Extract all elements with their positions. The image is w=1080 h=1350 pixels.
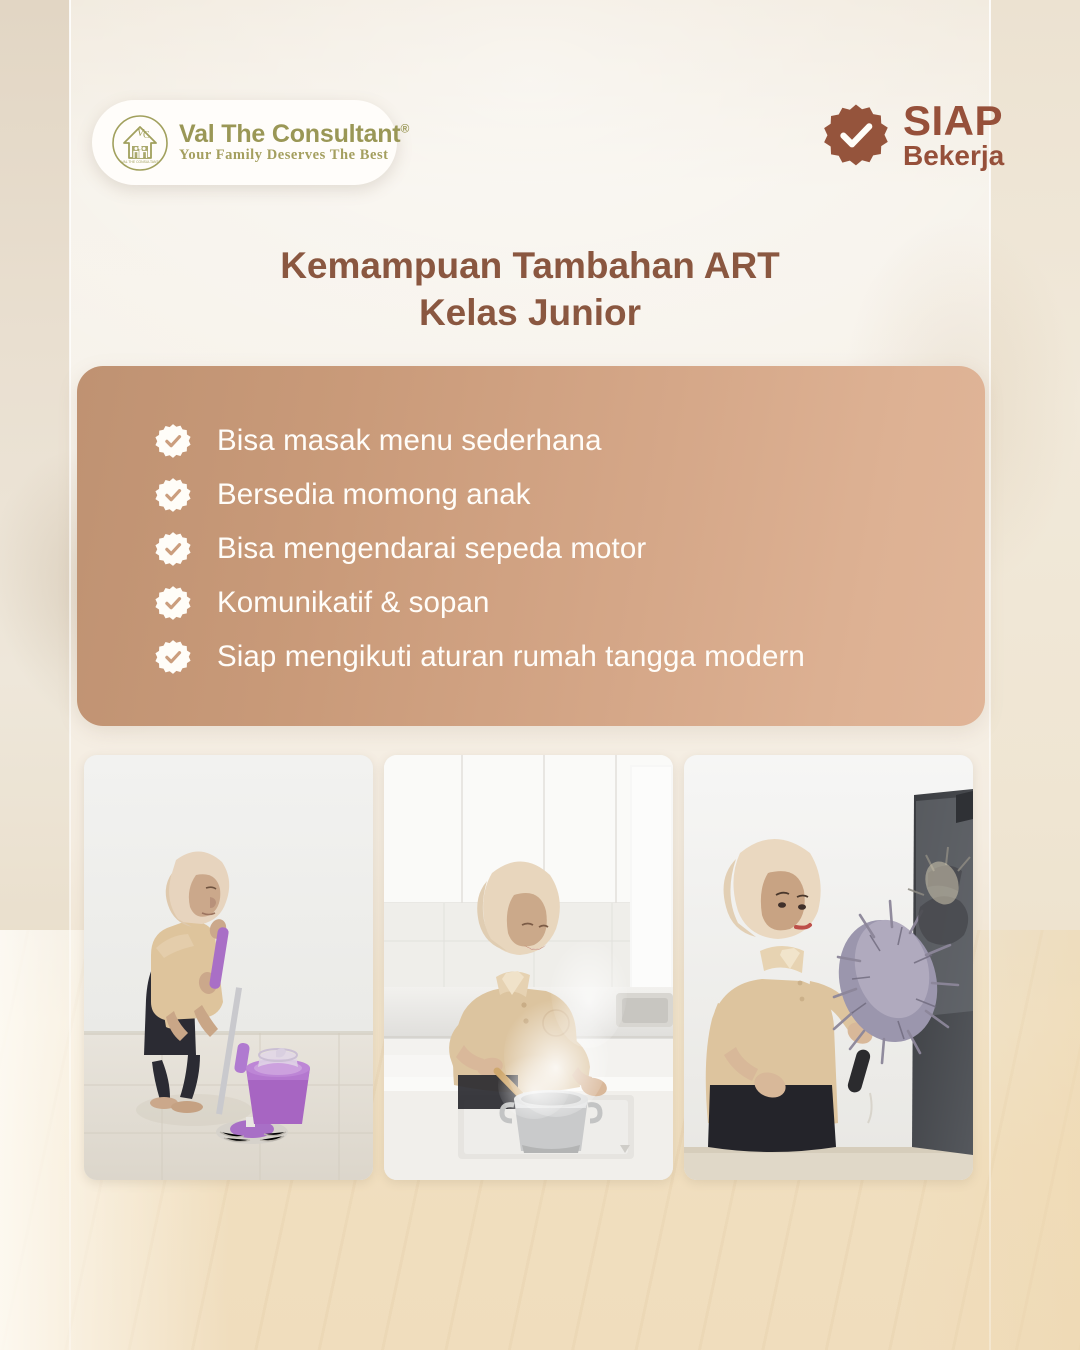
list-item: Bersedia momong anak (155, 468, 985, 521)
skills-list: Bisa masak menu sederhana Bersedia momon… (155, 414, 985, 683)
page-title: Kemampuan Tambahan ART Kelas Junior (70, 242, 990, 337)
svg-text:C: C (143, 130, 150, 141)
skills-card: Bisa masak menu sederhana Bersedia momon… (77, 366, 985, 726)
brand-tagline: Your Family Deserves The Best (179, 147, 389, 163)
verified-check-badge-icon (823, 102, 889, 168)
siap-title: SIAP (903, 100, 1004, 141)
page-title-line1: Kemampuan Tambahan ART (280, 245, 780, 286)
list-item: Komunikatif & sopan (155, 576, 985, 629)
gallery-photo-cooking[interactable] (384, 755, 673, 1180)
brand-logo-pill[interactable]: V C VAL THE CONSULTANT Val The Consultan… (92, 100, 397, 185)
siap-bekerja-badge: SIAP Bekerja (823, 100, 1004, 170)
check-badge-icon (155, 477, 191, 513)
gallery-photo-mopping[interactable] (84, 755, 373, 1180)
page-title-line2: Kelas Junior (70, 289, 990, 336)
check-badge-icon (155, 639, 191, 675)
brand-name: Val The Consultant® (179, 120, 409, 148)
list-item-label: Bisa masak menu sederhana (217, 424, 602, 458)
list-item-label: Bersedia momong anak (217, 478, 531, 512)
check-badge-icon (155, 585, 191, 621)
list-item-label: Siap mengikuti aturan rumah tangga moder… (217, 640, 805, 674)
siap-subtitle: Bekerja (903, 142, 1004, 169)
registered-mark: ® (400, 122, 409, 136)
list-item: Bisa mengendarai sepeda motor (155, 522, 985, 575)
house-family-circle-logo-icon: V C VAL THE CONSULTANT (110, 113, 170, 173)
check-badge-icon (155, 423, 191, 459)
list-item-label: Bisa mengendarai sepeda motor (217, 532, 646, 566)
check-badge-icon (155, 531, 191, 567)
gallery-photo-dusting[interactable] (684, 755, 973, 1180)
list-item: Siap mengikuti aturan rumah tangga moder… (155, 630, 985, 683)
list-item: Bisa masak menu sederhana (155, 414, 985, 467)
svg-text:VAL THE CONSULTANT: VAL THE CONSULTANT (121, 160, 158, 164)
photo-gallery (84, 755, 990, 1180)
list-item-label: Komunikatif & sopan (217, 586, 489, 620)
